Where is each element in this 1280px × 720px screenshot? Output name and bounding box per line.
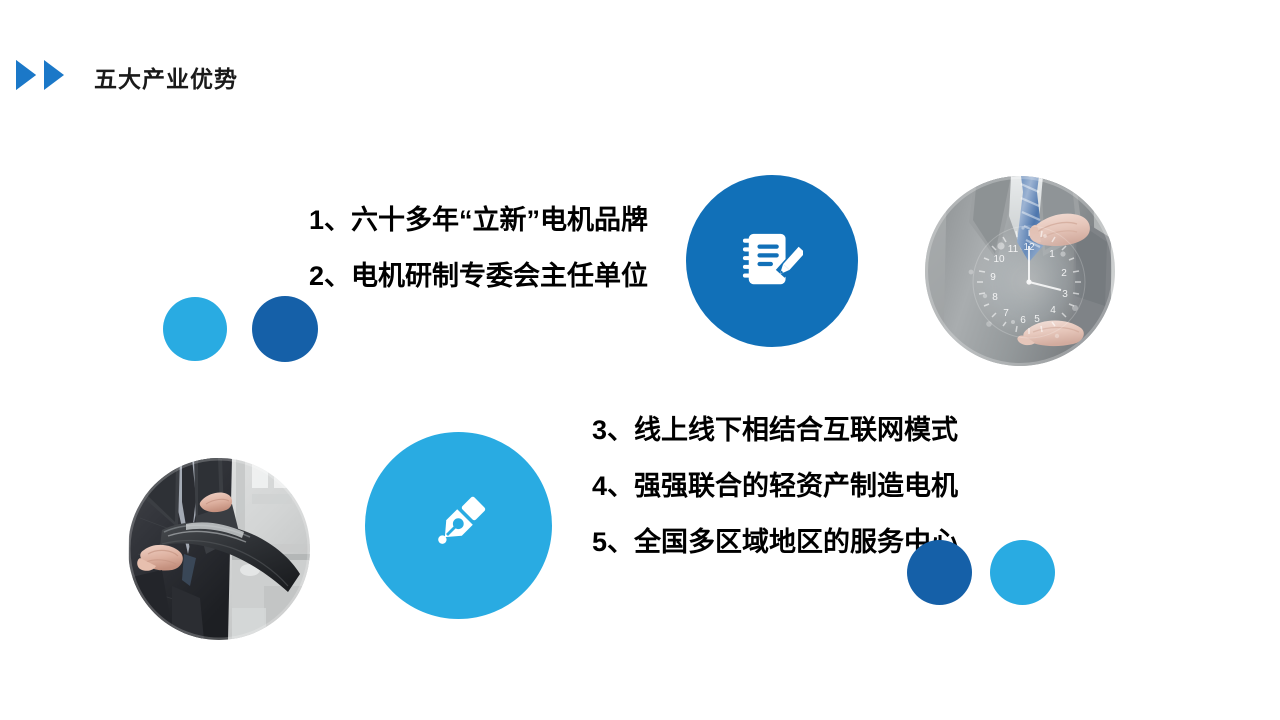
svg-text:11: 11 <box>1008 244 1019 255</box>
icon-circle-notepad <box>686 175 858 347</box>
svg-text:9: 9 <box>990 272 996 283</box>
photo-businessman-holding-folder <box>128 458 310 640</box>
svg-text:5: 5 <box>1034 314 1040 325</box>
bullet-line-1: 1、六十多年“立新”电机品牌 <box>258 192 648 248</box>
svg-text:1: 1 <box>1049 249 1055 260</box>
bullet-group-top: 1、六十多年“立新”电机品牌 2、电机研制专委会主任单位 <box>258 192 648 304</box>
pen-nib-icon <box>424 488 494 563</box>
decorative-circle-cyan-top-left <box>163 297 227 361</box>
decorative-circle-cyan-bottom-right <box>990 540 1055 605</box>
decorative-circle-blue-bottom-right <box>907 540 972 605</box>
svg-text:4: 4 <box>1050 305 1056 316</box>
slide-canvas: 五大产业优势 1、六十多年“立新”电机品牌 2、电机研制专委会主任单位 3、线上… <box>0 0 1280 720</box>
svg-text:10: 10 <box>993 254 1005 265</box>
slide-header: 五大产业优势 <box>0 55 238 99</box>
svg-text:3: 3 <box>1062 289 1068 300</box>
svg-text:8: 8 <box>992 292 998 303</box>
page-title: 五大产业优势 <box>94 60 238 94</box>
double-chevron-right-icon <box>14 58 76 97</box>
icon-circle-pen-nib <box>365 432 552 619</box>
bullet-line-4: 4、强强联合的轻资产制造电机 <box>592 458 992 514</box>
bullet-line-2: 2、电机研制专委会主任单位 <box>258 248 648 304</box>
photo-businessman-holding-clock: 12 1 2 3 4 5 6 7 8 9 10 11 <box>925 176 1115 366</box>
decorative-circle-blue-top-left <box>252 296 318 362</box>
svg-text:7: 7 <box>1003 308 1009 319</box>
svg-text:6: 6 <box>1020 315 1026 326</box>
svg-text:2: 2 <box>1061 268 1067 279</box>
bullet-line-3: 3、线上线下相结合互联网模式 <box>592 402 992 458</box>
notepad-pencil-icon <box>741 228 803 295</box>
